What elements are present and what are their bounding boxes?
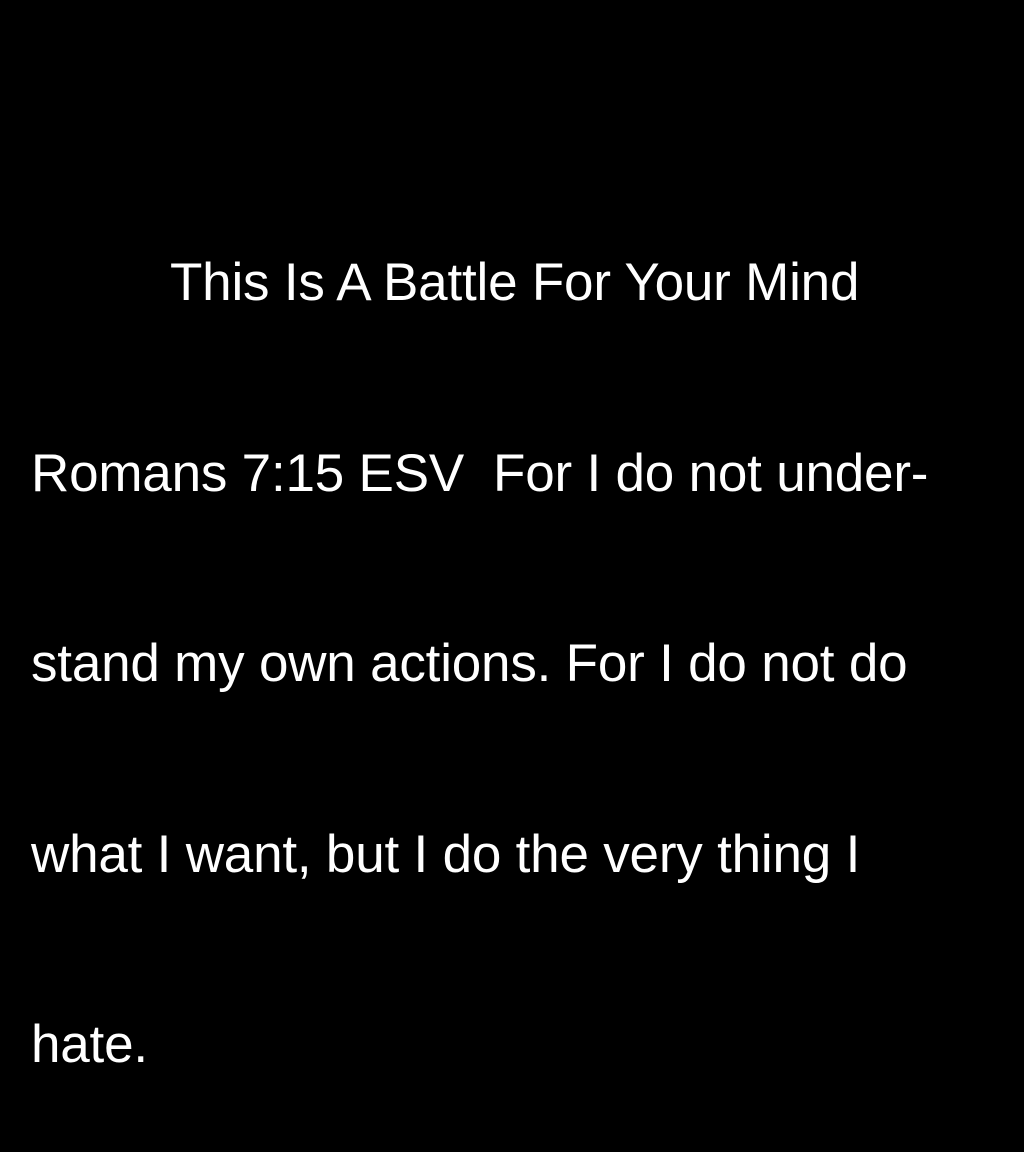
slide-canvas: This Is A Battle For Your Mind Romans 7:…: [0, 0, 1024, 576]
slide-body-line-4: hate.: [31, 1013, 993, 1077]
slide-body-line-3: what I want, but I do the very thing I: [31, 823, 993, 887]
slide-body-line-1: Romans 7:15 ESV For I do not under-: [31, 442, 993, 506]
slide-title-line: This Is A Battle For Your Mind: [31, 251, 993, 315]
slide-body-line-2: stand my own actions. For I do not do: [31, 632, 993, 696]
slide-text-block: This Is A Battle For Your Mind Romans 7:…: [31, 124, 993, 1152]
